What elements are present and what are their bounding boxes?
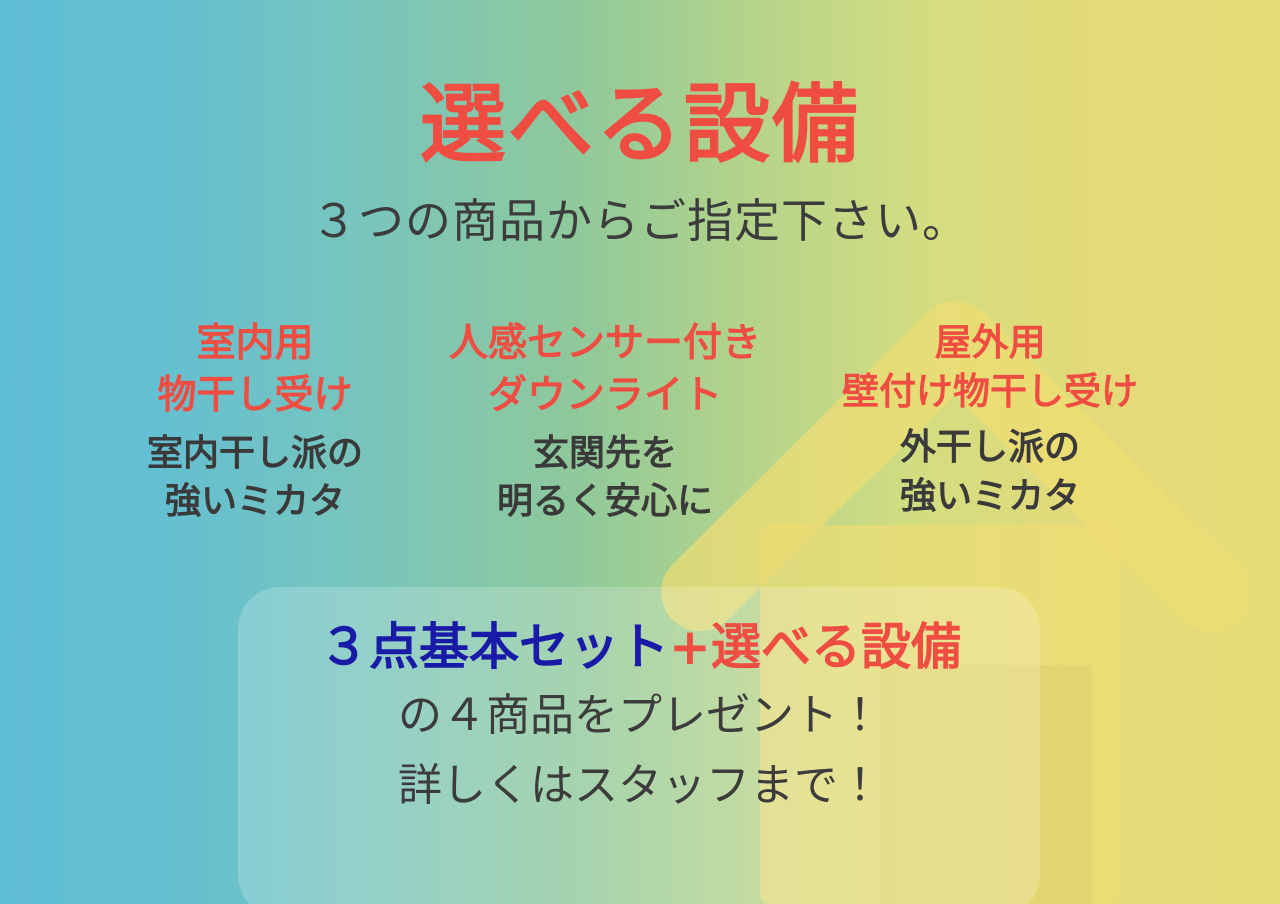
option-name-line-2: 壁付け物干し受け bbox=[796, 367, 1184, 416]
option-desc-line-1: 室内干し派の bbox=[96, 430, 414, 479]
option-description: 外干し派の 強いミカタ bbox=[796, 424, 1184, 521]
option-name: 屋外用 壁付け物干し受け bbox=[796, 318, 1184, 416]
option-desc-line-2: 強いミカタ bbox=[96, 478, 414, 527]
option-name: 人感センサー付き ダウンライト bbox=[426, 318, 784, 422]
page-title: 選べる設備 bbox=[0, 82, 1280, 168]
option-item-motion-sensor-downlight[interactable]: 人感センサー付き ダウンライト 玄関先を 明るく安心に bbox=[420, 318, 790, 527]
promo-poster: 選べる設備 ３つの商品からご指定下さい。 室内用 物干し受け 室内干し派の 強い… bbox=[0, 0, 1280, 904]
page-subtitle: ３つの商品からご指定下さい。 bbox=[0, 198, 1280, 244]
offer-headline: ３点基本セット+選べる設備 bbox=[0, 622, 1280, 672]
option-name-line-1: 室内用 bbox=[96, 318, 414, 370]
offer-headline-selectable-equipment: +選べる設備 bbox=[669, 618, 961, 676]
option-item-indoor-dryer-rack[interactable]: 室内用 物干し受け 室内干し派の 強いミカタ bbox=[90, 318, 420, 527]
option-desc-line-2: 強いミカタ bbox=[796, 473, 1184, 522]
offer-detail-line-1: の４商品をプレゼント！ bbox=[0, 694, 1280, 738]
offer-block: ３点基本セット+選べる設備 の４商品をプレゼント！ 詳しくはスタッフまで！ bbox=[0, 622, 1280, 808]
offer-headline-base-set: ３点基本セット bbox=[319, 618, 669, 676]
options-row: 室内用 物干し受け 室内干し派の 強いミカタ 人感センサー付き ダウンライト 玄… bbox=[0, 318, 1280, 527]
offer-detail-line-2: 詳しくはスタッフまで！ bbox=[0, 764, 1280, 808]
option-name-line-2: ダウンライト bbox=[426, 370, 784, 422]
option-name-line-1: 人感センサー付き bbox=[426, 318, 784, 370]
option-name-line-1: 屋外用 bbox=[796, 318, 1184, 367]
option-desc-line-1: 玄関先を bbox=[426, 430, 784, 479]
option-desc-line-1: 外干し派の bbox=[796, 424, 1184, 473]
option-name-line-2: 物干し受け bbox=[96, 370, 414, 422]
option-description: 室内干し派の 強いミカタ bbox=[96, 430, 414, 527]
option-item-outdoor-wall-dryer-rack[interactable]: 屋外用 壁付け物干し受け 外干し派の 強いミカタ bbox=[790, 318, 1190, 522]
option-desc-line-2: 明るく安心に bbox=[426, 478, 784, 527]
option-name: 室内用 物干し受け bbox=[96, 318, 414, 422]
option-description: 玄関先を 明るく安心に bbox=[426, 430, 784, 527]
